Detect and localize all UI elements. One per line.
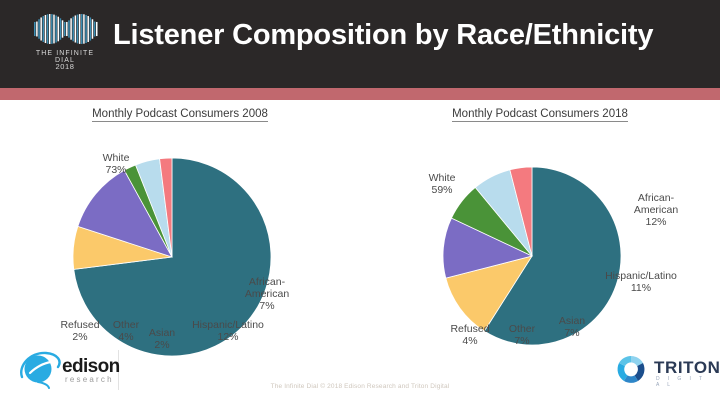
edison-research-logo: edison research xyxy=(18,350,138,392)
slice-label-african-american-2008: African- American 7% xyxy=(222,276,312,312)
page-title: Listener Composition by Race/Ethnicity xyxy=(113,20,713,52)
edison-orbit-icon xyxy=(18,350,62,390)
slice-label-white-2008: White 73% xyxy=(76,152,156,176)
slice-label-refused-2008: Refused 2% xyxy=(50,319,110,343)
chart-subtitle-2008: Monthly Podcast Consumers 2008 xyxy=(0,108,360,120)
chart-panel-2018: Monthly Podcast Consumers 2018 White 59%… xyxy=(360,104,720,369)
slice-label-refused-2018: Refused 4% xyxy=(440,323,500,347)
chart-panel-2008: Monthly Podcast Consumers 2008 White 73%… xyxy=(0,104,360,369)
slice-label-hispanic-latino-2008: Hispanic/Latino 12% xyxy=(180,319,276,343)
slice-label-african-american-2018: African- American 12% xyxy=(613,192,699,228)
chart-subtitle-2018: Monthly Podcast Consumers 2018 xyxy=(360,108,720,120)
accent-stripe xyxy=(0,88,720,100)
triton-swirl-icon xyxy=(612,352,650,388)
slice-label-white-2018: White 59% xyxy=(406,172,478,196)
triton-subtext: D I G I T A L xyxy=(656,376,712,388)
slice-label-asian-2018: Asian 7% xyxy=(550,315,594,339)
triton-digital-logo: TRITON D I G I T A L xyxy=(612,352,712,390)
the-infinite-dial-logo: THE INFINITE DIAL 2018 xyxy=(26,12,104,78)
edison-subtext: research xyxy=(65,375,114,384)
logo-year: 2018 xyxy=(26,62,104,71)
triton-wordmark: TRITON xyxy=(654,358,720,378)
slice-label-hispanic-latino-2018: Hispanic/Latino 11% xyxy=(588,270,694,294)
infinity-bars-icon xyxy=(32,12,98,46)
slide-root: THE INFINITE DIAL 2018 Listener Composit… xyxy=(0,0,720,405)
slice-label-other-2008: Other 4% xyxy=(104,319,148,343)
slice-label-other-2018: Other 7% xyxy=(500,323,544,347)
